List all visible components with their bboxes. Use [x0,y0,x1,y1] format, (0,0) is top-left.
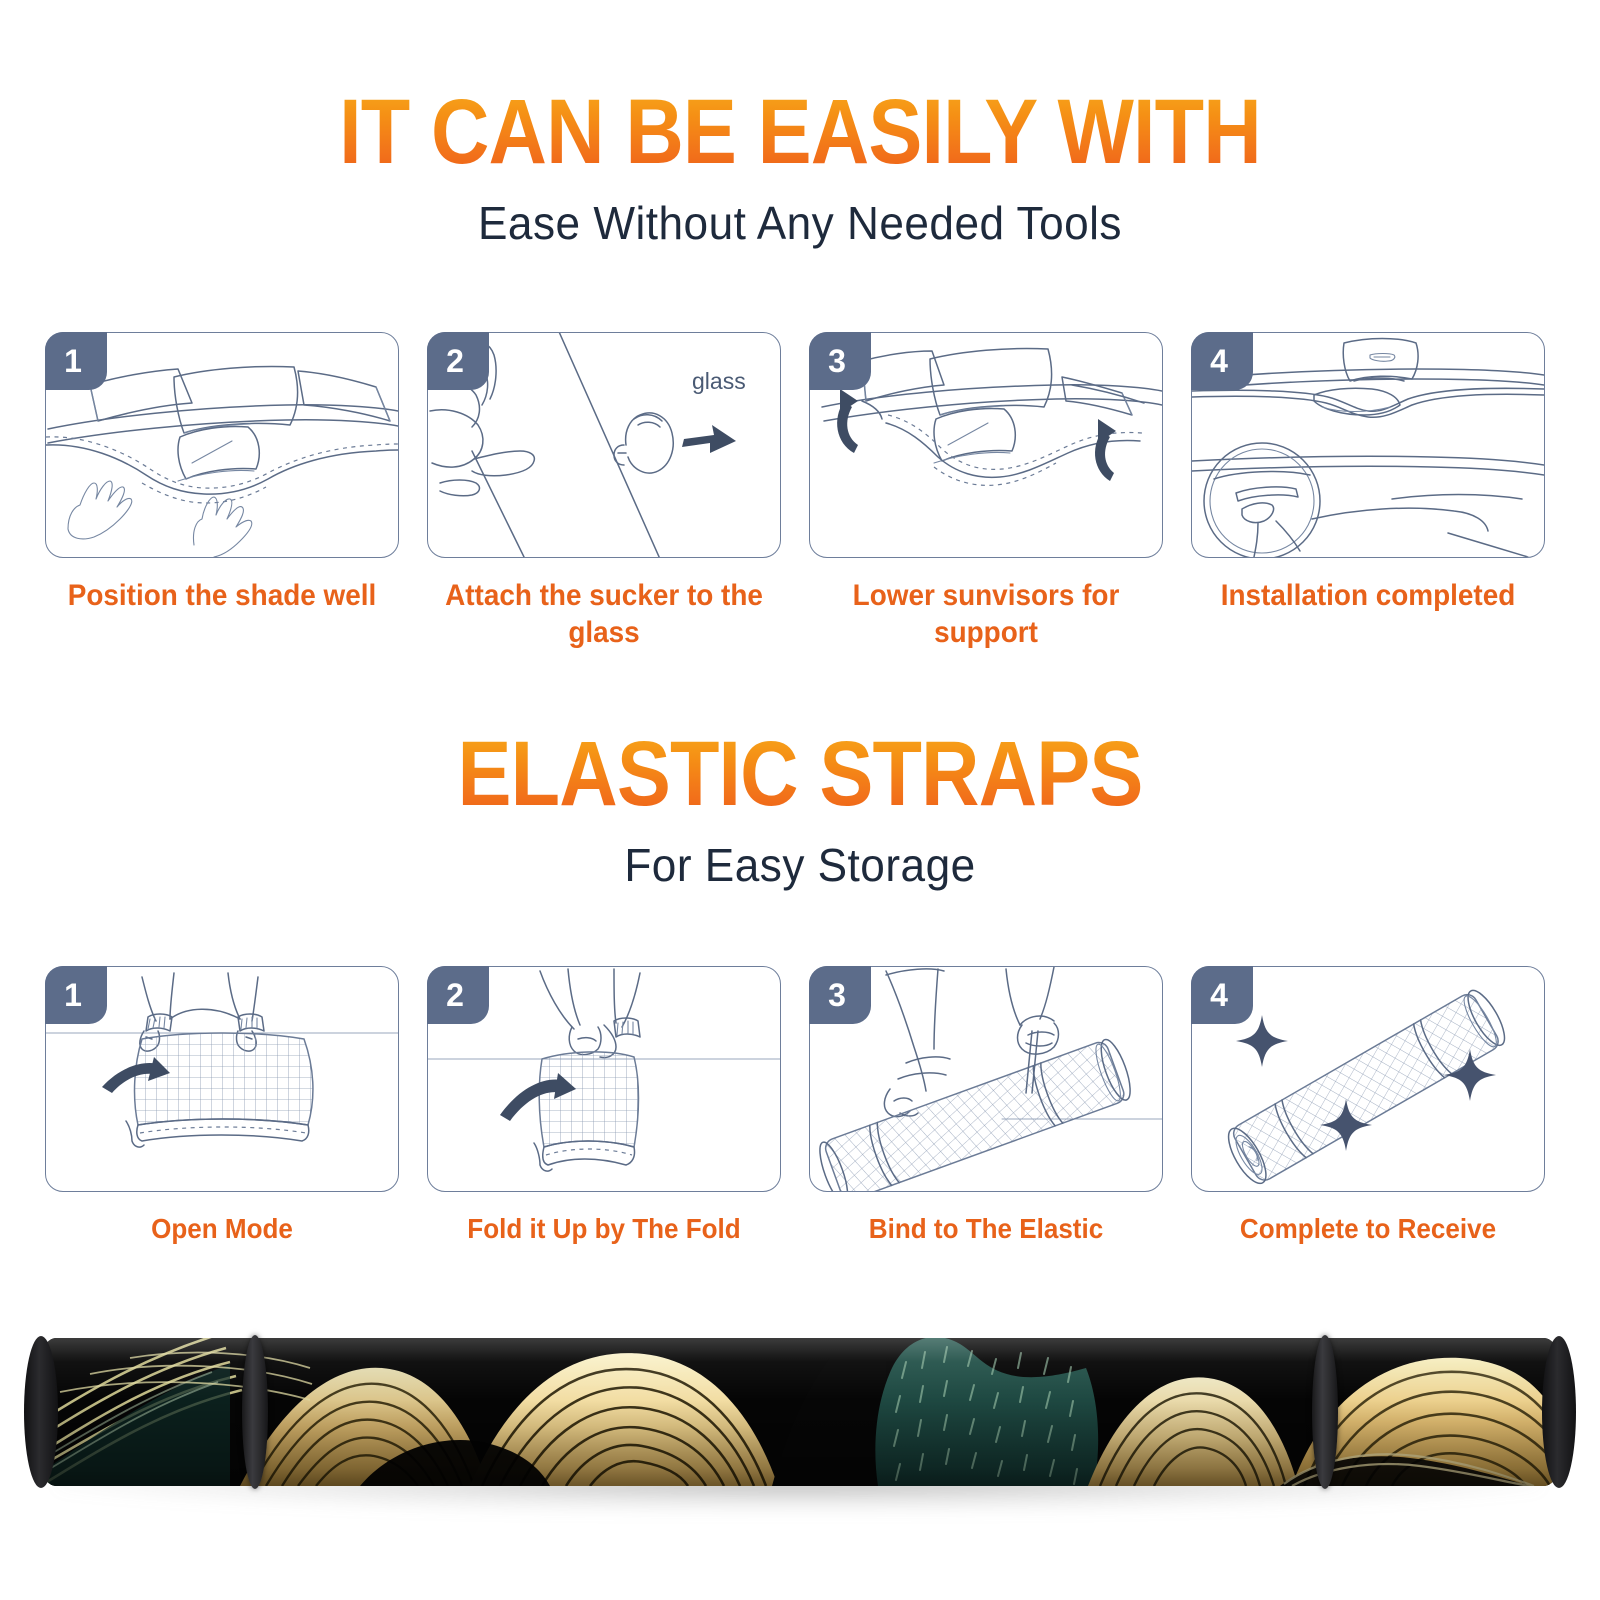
page-title: IT CAN BE EASILY WITH [96,86,1504,178]
step-illustration-panel: 2 [427,966,781,1192]
step-number-badge: 3 [809,332,871,390]
step-card-storage-4: 4 [1192,966,1544,1246]
step-illustration-panel: 3 [809,332,1163,558]
installation-section-subheader: Ease Without Any Needed Tools [0,196,1600,250]
installation-steps-row: 1 [46,332,1554,651]
storage-section-header: ELASTIC STRAPS [0,728,1600,820]
step-caption: Lower sunvisors for support [809,578,1162,651]
page-subtitle: Ease Without Any Needed Tools [32,196,1568,250]
storage-section-subheader: For Easy Storage [0,838,1600,892]
step-caption: Bind to The Elastic [809,1212,1162,1246]
glass-annotation-label: glass [692,368,746,394]
page-subtitle-secondary: For Easy Storage [32,838,1568,892]
step-illustration-panel: 2 [427,332,781,558]
sparkle-icon [1236,1015,1288,1067]
step-caption: Complete to Receive [1191,1212,1544,1246]
step-number-badge: 4 [1191,332,1253,390]
step-card-install-3: 3 [810,332,1162,651]
step-card-install-4: 4 [1192,332,1544,651]
step-card-storage-2: 2 [428,966,780,1246]
step-number-badge: 4 [1191,966,1253,1024]
step-caption: Fold it Up by The Fold [427,1212,780,1246]
step-card-install-2: 2 [428,332,780,651]
step-card-storage-1: 1 [46,966,398,1246]
elastic-strap-right [1312,1335,1338,1489]
roll-end-cap-left [24,1336,58,1488]
step-card-storage-3: 3 [810,966,1162,1246]
step-caption: Open Mode [45,1212,398,1246]
step-card-install-1: 1 [46,332,398,651]
step-number-badge: 2 [427,332,489,390]
step-caption: Attach the sucker to the glass [427,578,780,651]
page-title-secondary: ELASTIC STRAPS [96,728,1504,820]
rolled-sunshade-product-photo [30,1338,1570,1490]
step-number-badge: 1 [45,966,107,1024]
step-caption: Position the shade well [45,578,398,615]
storage-steps-row: 1 [46,966,1554,1246]
step-number-badge: 3 [809,966,871,1024]
step-number-badge: 2 [427,966,489,1024]
step-illustration-panel: 1 [45,966,399,1192]
elastic-strap-left [242,1335,268,1489]
step-illustration-panel: 4 [1191,332,1545,558]
installation-section-header: IT CAN BE EASILY WITH [0,86,1600,178]
step-caption: Installation completed [1191,578,1544,615]
roll-end-cap-right [1542,1336,1576,1488]
step-number-badge: 1 [45,332,107,390]
step-illustration-panel: 1 [45,332,399,558]
step-illustration-panel: 4 [1191,966,1545,1192]
step-illustration-panel: 3 [809,966,1163,1192]
